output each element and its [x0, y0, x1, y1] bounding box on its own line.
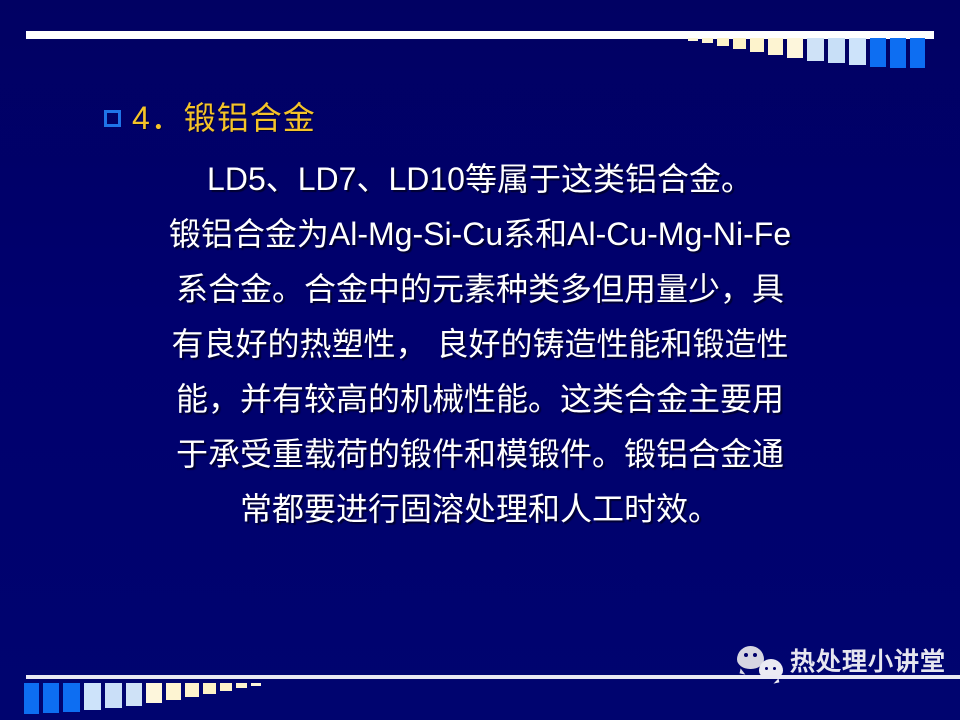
decoration-bar: [63, 683, 80, 712]
body-line: 于承受重载荷的锻件和模锻件。锻铝合金通: [0, 427, 960, 482]
bottom-bar-decoration: [24, 683, 289, 715]
decoration-bar: [24, 683, 39, 714]
body-line: LD5、LD7、LD10等属于这类铝合金。: [0, 152, 960, 207]
decoration-bar: [84, 683, 101, 710]
decoration-bar: [220, 683, 232, 691]
decoration-bar: [828, 38, 845, 63]
decoration-bar: [849, 38, 866, 65]
wechat-icon: [737, 645, 783, 679]
decoration-bar: [105, 683, 122, 708]
decoration-bar: [787, 38, 803, 58]
decoration-bar: [717, 38, 729, 46]
decoration-bar: [203, 683, 216, 694]
watermark-label: 热处理小讲堂: [790, 647, 946, 677]
decoration-bar: [166, 683, 181, 700]
body-line: 有良好的热塑性， 良好的铸造性能和锻造性: [0, 317, 960, 372]
body-line: 锻铝合金为Al-Mg-Si-Cu系和Al-Cu-Mg-Ni-Fe: [0, 207, 960, 262]
decoration-bar: [702, 38, 713, 43]
decoration-bar: [807, 38, 824, 61]
decoration-bar: [126, 683, 142, 706]
decoration-bar: [750, 38, 764, 52]
bottom-rule-divider: [26, 675, 960, 679]
decoration-bar: [688, 38, 698, 41]
square-bullet-icon: [104, 110, 121, 127]
decoration-bar: [890, 38, 906, 68]
decoration-bar: [236, 683, 247, 688]
decoration-bar: [910, 38, 925, 68]
decoration-bar: [43, 683, 59, 713]
decoration-bar: [251, 683, 261, 686]
body-line: 系合金。合金中的元素种类多但用量少，具: [0, 262, 960, 317]
decoration-bar: [768, 38, 783, 55]
body-line: 能，并有较高的机械性能。这类合金主要用: [0, 372, 960, 427]
decoration-bar: [185, 683, 199, 697]
top-bar-decoration: [688, 38, 940, 68]
decoration-bar: [870, 38, 886, 67]
decoration-bar: [733, 38, 746, 49]
page-title: 4．锻铝合金: [132, 100, 316, 136]
body-line: 常都要进行固溶处理和人工时效。: [0, 482, 960, 537]
decoration-bar: [146, 683, 162, 703]
slide-canvas: 4．锻铝合金 LD5、LD7、LD10等属于这类铝合金。锻铝合金为Al-Mg-S…: [0, 0, 960, 720]
body-text-block: LD5、LD7、LD10等属于这类铝合金。锻铝合金为Al-Mg-Si-Cu系和A…: [0, 152, 960, 537]
slide-title-row: 4．锻铝合金: [104, 96, 316, 140]
